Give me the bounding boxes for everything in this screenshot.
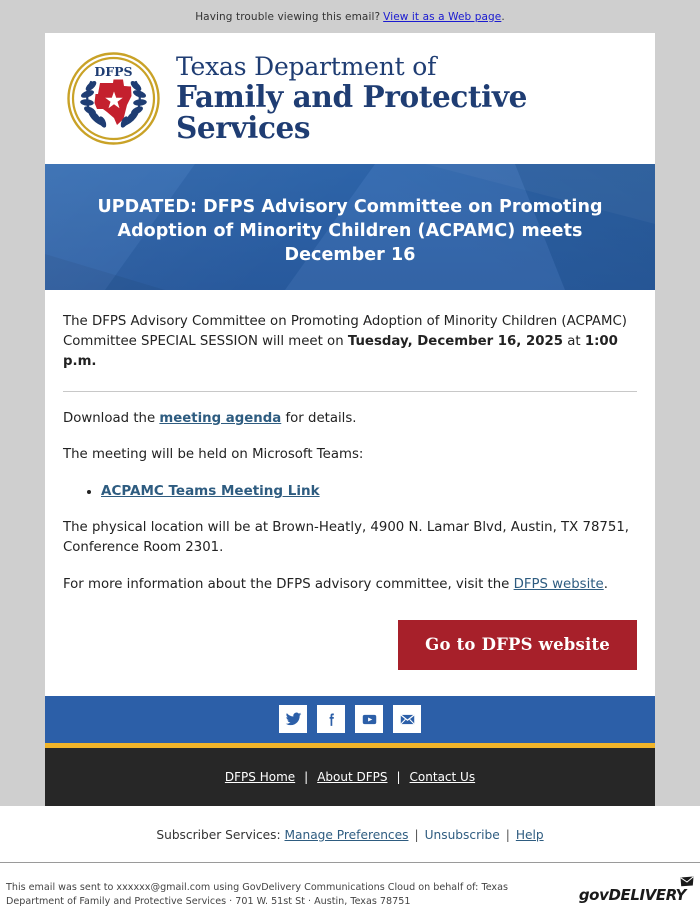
footer-separator-1: | <box>295 770 317 784</box>
banner-title: UPDATED: DFPS Advisory Committee on Prom… <box>45 164 655 267</box>
legal-footer: This email was sent to xxxxxx@gmail.com … <box>0 863 700 919</box>
view-as-web-page-link[interactable]: View it as a Web page <box>383 11 501 23</box>
social-link-twitter[interactable] <box>279 705 307 733</box>
youtube-icon <box>361 711 378 728</box>
teams-link-list: ACPAMC Teams Meeting Link <box>63 481 637 502</box>
dfps-seal-logo: DFPS <box>67 52 160 145</box>
govdelivery-prefix: gov <box>579 886 609 904</box>
go-to-dfps-website-button[interactable]: Go to DFPS website <box>398 620 637 670</box>
subscriber-separator-1: | <box>408 828 424 842</box>
cta-container: Go to DFPS website <box>45 617 655 696</box>
announcement-banner: UPDATED: DFPS Advisory Committee on Prom… <box>45 164 655 290</box>
meeting-agenda-link[interactable]: meeting agenda <box>159 411 281 426</box>
list-item: ACPAMC Teams Meeting Link <box>101 481 637 502</box>
more-info-paragraph: For more information about the DFPS advi… <box>63 575 637 595</box>
social-links-bar <box>45 696 655 743</box>
dfps-website-link[interactable]: DFPS website <box>514 577 604 592</box>
more-info-text-pre: For more information about the DFPS advi… <box>63 577 514 592</box>
social-link-email[interactable] <box>393 705 421 733</box>
teams-intro-paragraph: The meeting will be held on Microsoft Te… <box>63 445 637 465</box>
section-divider <box>63 391 637 392</box>
agenda-text-post: for details. <box>281 411 356 426</box>
preheader-bar: Having trouble viewing this email? View … <box>0 0 700 33</box>
seal-icon: DFPS <box>67 52 160 145</box>
meeting-date: Tuesday, December 16, 2025 <box>348 334 563 349</box>
facebook-icon <box>323 711 340 728</box>
footer-separator-2: | <box>388 770 410 784</box>
govdelivery-wordmark: govdelivery <box>579 886 686 904</box>
govdelivery-envelope-icon <box>680 876 694 887</box>
social-link-facebook[interactable] <box>317 705 345 733</box>
footer-navigation: DFPS Home | About DFPS | Contact Us <box>45 748 655 806</box>
subscriber-separator-2: | <box>500 828 516 842</box>
twitter-icon <box>285 711 302 728</box>
meeting-intro-paragraph: The DFPS Advisory Committee on Promoting… <box>63 312 637 373</box>
subscriber-services-label: Subscriber Services: <box>156 828 280 842</box>
subscriber-services-bar: Subscriber Services: Manage Preferences|… <box>0 806 700 862</box>
social-link-youtube[interactable] <box>355 705 383 733</box>
unsubscribe-link[interactable]: Unsubscribe <box>425 828 500 842</box>
svg-text:DFPS: DFPS <box>94 64 132 79</box>
agenda-paragraph: Download the meeting agenda for details. <box>63 409 637 429</box>
footer-link-contact-us[interactable]: Contact Us <box>410 770 476 784</box>
agency-name-line1: Texas Department of <box>176 54 655 80</box>
help-link[interactable]: Help <box>516 828 544 842</box>
email-header: DFPS <box>45 33 655 164</box>
preheader-text: Having trouble viewing this email? <box>195 11 380 23</box>
acpamc-teams-meeting-link[interactable]: ACPAMC Teams Meeting Link <box>101 483 320 499</box>
more-info-text-post: . <box>604 577 608 592</box>
agenda-text-pre: Download the <box>63 411 159 426</box>
preheader-period: . <box>501 11 504 23</box>
intro-text-part2: at <box>563 334 585 349</box>
email-card: DFPS <box>45 33 655 806</box>
envelope-icon <box>399 711 416 728</box>
govdelivery-suffix: delivery <box>608 886 686 904</box>
email-body: The DFPS Advisory Committee on Promoting… <box>45 290 655 617</box>
agency-wordmark: Texas Department of Family and Protectiv… <box>176 54 655 143</box>
footer-link-dfps-home[interactable]: DFPS Home <box>225 770 295 784</box>
manage-preferences-link[interactable]: Manage Preferences <box>285 828 409 842</box>
agency-name-line2: Family and Protective Services <box>176 82 655 143</box>
location-paragraph: The physical location will be at Brown-H… <box>63 518 637 558</box>
footer-link-about-dfps[interactable]: About DFPS <box>317 770 387 784</box>
